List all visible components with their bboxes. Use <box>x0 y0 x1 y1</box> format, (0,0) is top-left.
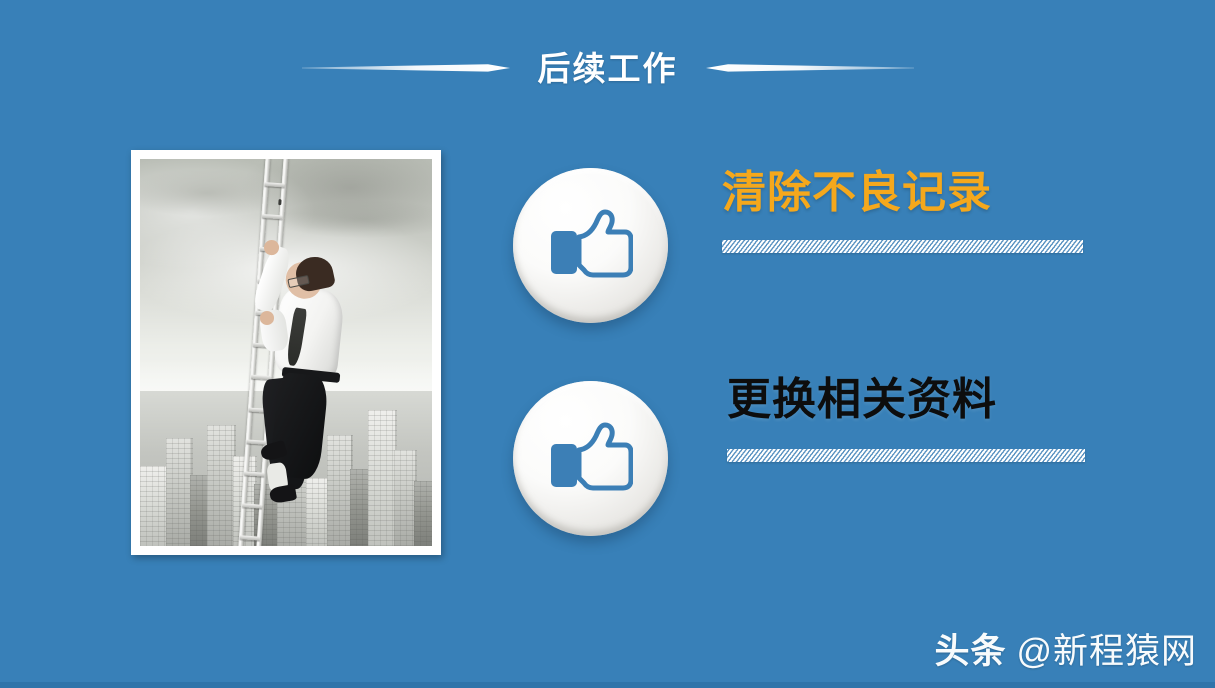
like-button-2[interactable] <box>513 381 668 536</box>
bottom-strip <box>0 682 1215 688</box>
photo-frame <box>131 150 441 555</box>
title-rule-right-icon <box>706 59 914 77</box>
watermark-brand: 头条 <box>934 623 1006 674</box>
bullet-item-1-divider <box>722 240 1083 253</box>
photo-ladder-climber <box>140 159 432 546</box>
page-title: 后续工作 <box>510 52 706 85</box>
slide-canvas: 后续工作 <box>0 0 1215 688</box>
hair <box>293 253 335 292</box>
title-rule-left-icon <box>302 59 510 77</box>
like-button-1[interactable] <box>513 168 668 323</box>
thumbs-up-icon <box>549 422 633 496</box>
watermark-handle: @新程猿网 <box>1016 623 1197 674</box>
bullet-item-1: 清除不良记录 <box>722 171 1083 253</box>
bullet-item-2: 更换相关资料 <box>727 378 1085 462</box>
hand <box>260 311 275 325</box>
climbing-businessman <box>140 159 432 546</box>
bullet-item-2-label: 更换相关资料 <box>727 378 1085 422</box>
bullet-item-1-label: 清除不良记录 <box>722 171 1083 215</box>
thumbs-up-icon <box>549 209 633 283</box>
slide-title-row: 后续工作 <box>0 40 1215 96</box>
watermark: 头条 @新程猿网 <box>934 623 1197 674</box>
bullet-item-2-divider <box>727 449 1085 462</box>
